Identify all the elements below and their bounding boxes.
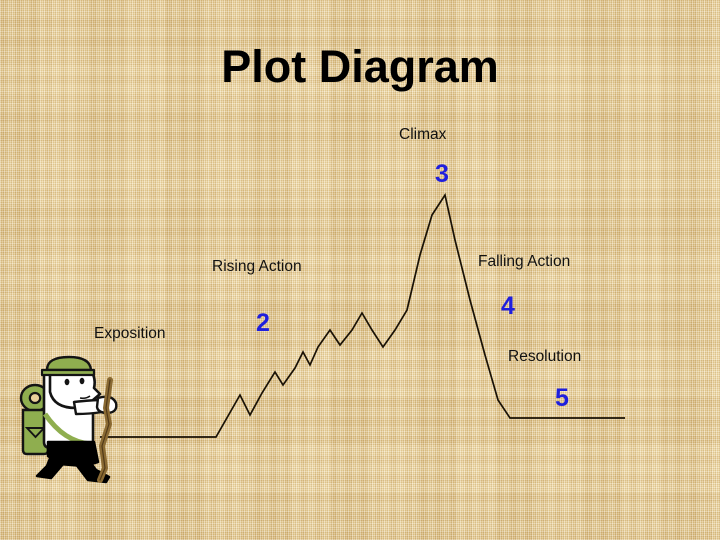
- plot-diagram-slide: Plot Diagram Exposition 1 Rising Action …: [0, 0, 720, 540]
- hiker-eye-left: [65, 379, 70, 385]
- hiker-eye-right: [80, 378, 85, 384]
- hiker-cap-icon: [42, 357, 94, 375]
- hiker-clipart: [0, 0, 720, 540]
